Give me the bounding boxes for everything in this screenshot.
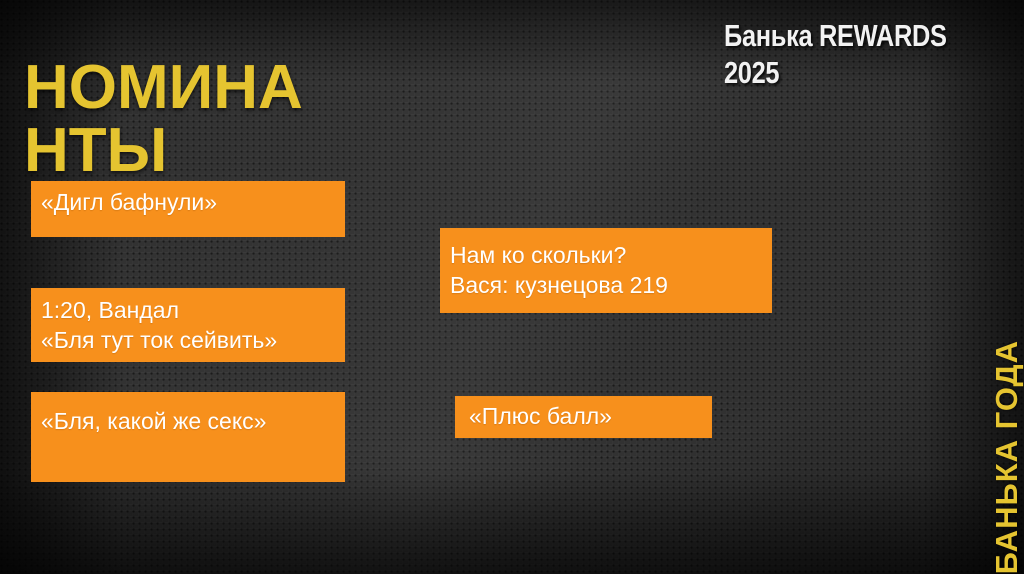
quote-callout-skolki-line-2: Вася: кузнецова 219: [450, 270, 762, 300]
quote-callout-skolki: Нам ко скольки? Вася: кузнецова 219: [440, 228, 772, 313]
presentation-slide: НОМИНАНТЫ Банька REWARDS 2025 «Дигл бафн…: [0, 0, 1024, 574]
quote-callout-digl-line-1: «Дигл бафнули»: [41, 187, 335, 217]
side-label-banka-goda: БАНЬКА ГОДА: [987, 334, 1024, 574]
quote-callout-plus-ball-line-1: «Плюс балл»: [469, 401, 702, 431]
quote-callout-vandal: 1:20, Вандал «Бля тут ток сейвить»: [31, 288, 345, 362]
quote-callout-skolki-line-1: Нам ко скольки?: [450, 240, 762, 270]
quote-callout-vandal-line-2: «Бля тут ток сейвить»: [41, 325, 335, 355]
quote-callout-digl: «Дигл бафнули»: [31, 181, 345, 237]
quote-callout-seks: «Бля, какой же секс»: [31, 392, 345, 482]
event-header: Банька REWARDS 2025: [724, 18, 952, 91]
page-title: НОМИНАНТЫ: [24, 56, 324, 182]
quote-callout-vandal-line-1: 1:20, Вандал: [41, 295, 335, 325]
quote-callout-plus-ball: «Плюс балл»: [455, 396, 712, 438]
event-header-line-2: 2025: [724, 55, 952, 92]
quote-callout-seks-line-1: «Бля, какой же секс»: [41, 406, 335, 436]
event-header-line-1: Банька REWARDS: [724, 18, 952, 55]
